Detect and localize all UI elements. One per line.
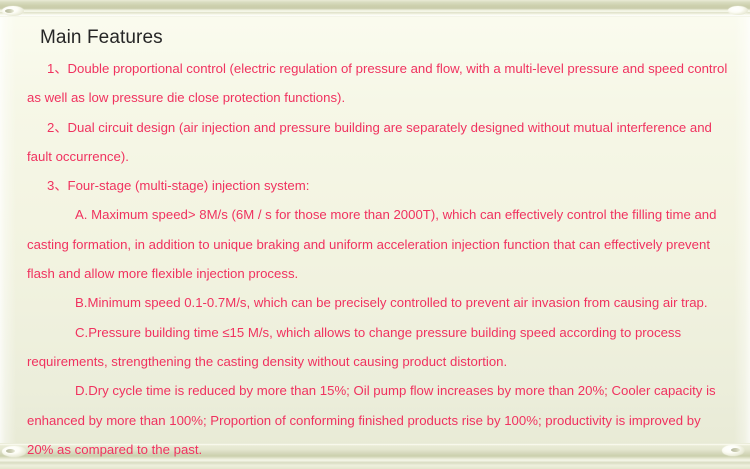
list-item: 1、Double proportional control (electric … <box>22 54 728 113</box>
list-item: A. Maximum speed> 8M/s (6M / s for those… <box>22 200 728 288</box>
list-item: 2、Dual circuit design (air injection and… <box>22 113 728 172</box>
list-item: D.Dry cycle time is reduced by more than… <box>22 376 728 464</box>
feature-list: 1、Double proportional control (electric … <box>22 54 728 464</box>
oval-pin-bottom-left-icon <box>6 449 15 453</box>
content-area: Main Features 1、Double proportional cont… <box>0 16 750 443</box>
page-title: Main Features <box>22 16 728 54</box>
decorative-top-band <box>0 0 750 16</box>
oval-pin-bottom-right-icon <box>731 448 740 452</box>
list-item: C.Pressure building time ≤15 M/s, which … <box>22 318 728 377</box>
oval-pin-top-left-icon <box>5 9 14 13</box>
list-item: B.Minimum speed 0.1-0.7M/s, which can be… <box>22 288 728 317</box>
list-item: 3、Four-stage (multi-stage) injection sys… <box>22 171 728 200</box>
oval-accent-top-right-icon <box>728 6 748 15</box>
feature-card: Main Features 1、Double proportional cont… <box>0 0 750 469</box>
